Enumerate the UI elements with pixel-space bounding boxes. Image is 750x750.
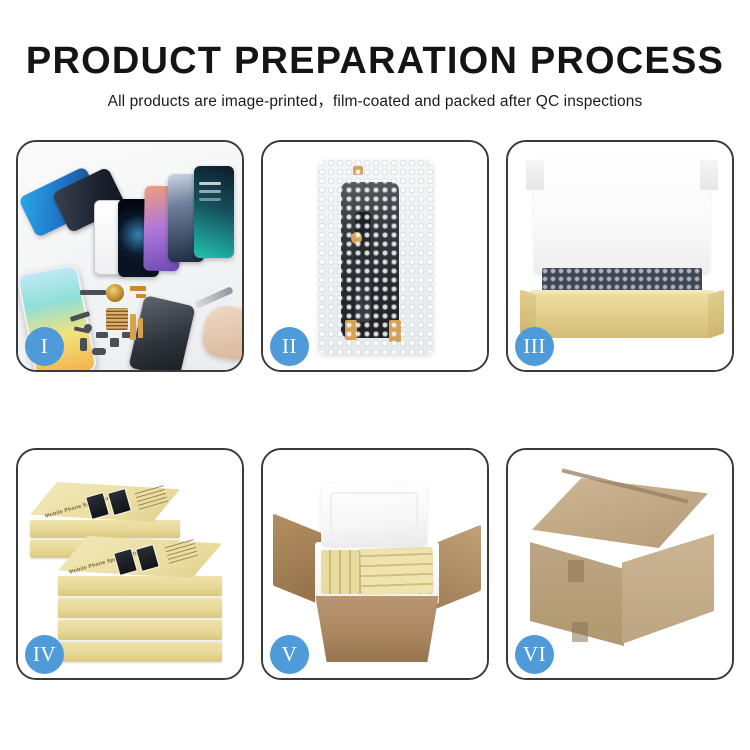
step-badge-4: IV (25, 635, 64, 674)
foam-cooler-lid-graphic (321, 484, 427, 546)
carton-tab-lower-graphic (572, 622, 588, 642)
process-step-card-4: Mobile Phone Spare Parts Mobile Phone Sp… (16, 448, 244, 680)
carton-front-panel-graphic (307, 596, 447, 662)
process-step-card-3: III (506, 140, 734, 372)
carton-top-face-graphic (532, 478, 708, 548)
process-step-card-6: VI (506, 448, 734, 680)
inner-box-base-graphic (530, 294, 714, 338)
step-badge-2: II (270, 327, 309, 366)
process-step-card-5: V (261, 448, 489, 680)
foam-lid-graphic (534, 158, 710, 274)
page-header: PRODUCT PREPARATION PROCESS All products… (0, 0, 750, 110)
carton-right-face-graphic (622, 534, 714, 644)
connector-grid-graphic (106, 308, 128, 330)
carton-tab-upper-graphic (568, 560, 584, 582)
page-title: PRODUCT PREPARATION PROCESS (0, 0, 750, 80)
yellow-boxes-row-2-graphic (360, 547, 434, 595)
step-badge-5: V (270, 635, 309, 674)
bubble-wrap-bag-graphic (319, 160, 433, 354)
speaker-component-graphic (106, 284, 124, 302)
bubble-texture-overlay (319, 160, 433, 354)
process-step-card-1: I (16, 140, 244, 372)
step-badge-1: I (25, 327, 64, 366)
step-badge-3: III (515, 327, 554, 366)
step-badge-6: VI (515, 635, 554, 674)
process-step-grid: I II III (16, 140, 734, 680)
process-step-card-2: II (261, 140, 489, 372)
page-subtitle: All products are image-printed，film-coat… (0, 80, 750, 110)
